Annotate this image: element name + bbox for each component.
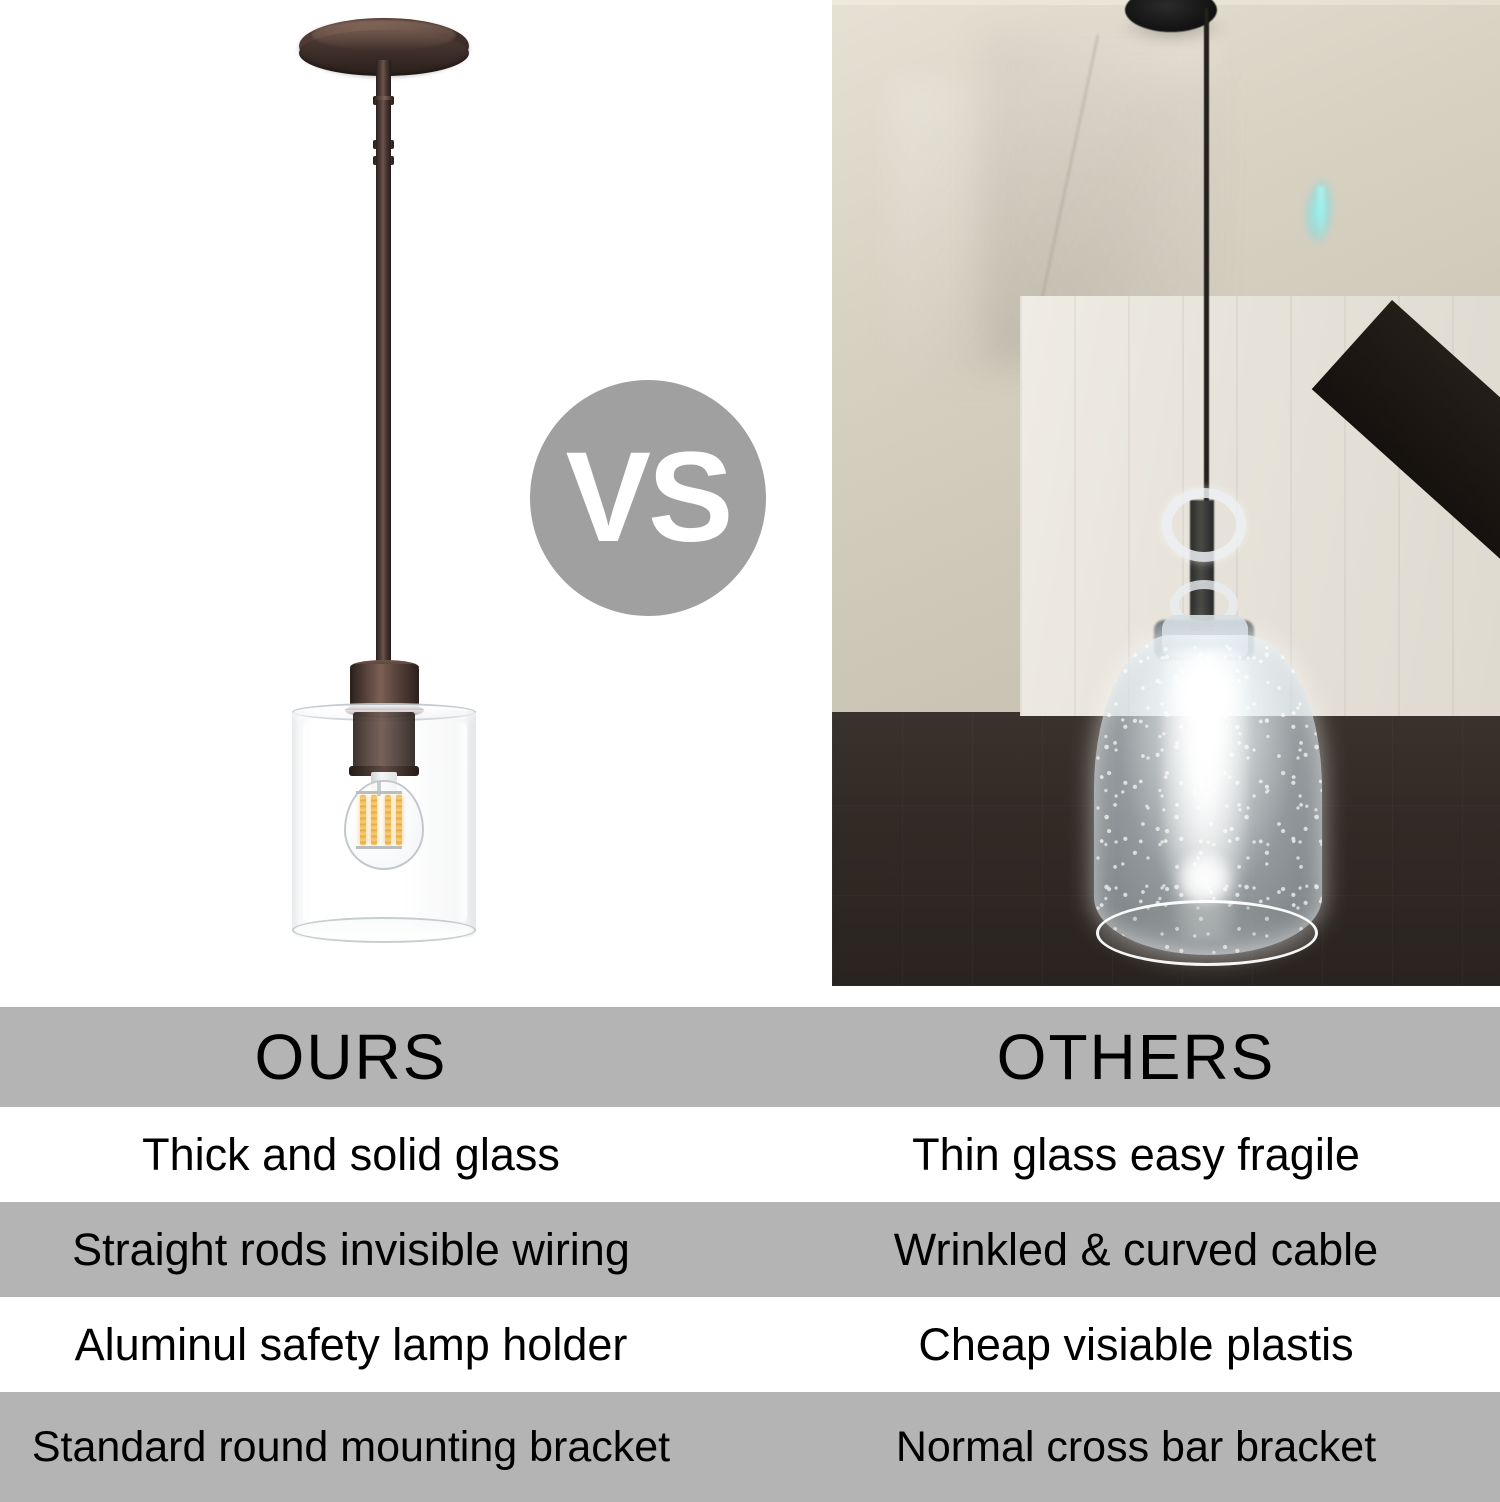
glass-shade-bottom-rim xyxy=(292,917,476,943)
hero-section: VS xyxy=(0,0,1500,1007)
filament-strip xyxy=(396,795,402,845)
column-header-ours: OURS xyxy=(0,1007,750,1107)
glass-highlight-left xyxy=(303,722,315,922)
filament-strip xyxy=(371,795,377,845)
others-product-photo xyxy=(832,0,1500,986)
canopy-highlight xyxy=(312,20,456,50)
comparison-table: OURS OTHERS Thick and solid glass Thin g… xyxy=(0,1007,1500,1502)
comparison-infographic: VS xyxy=(0,0,1500,1500)
table-row: Standard round mounting bracket Normal c… xyxy=(0,1392,1500,1502)
filament-bar-top xyxy=(356,791,402,794)
table-row: Thick and solid glass Thin glass easy fr… xyxy=(0,1107,1500,1202)
feature-ours: Thick and solid glass xyxy=(0,1107,750,1202)
feature-ours: Straight rods invisible wiring xyxy=(0,1202,750,1297)
table-header-row: OURS OTHERS xyxy=(0,1007,1500,1107)
glass-ring-upper xyxy=(1162,488,1246,562)
feature-others: Cheap visiable plastis xyxy=(750,1297,1500,1392)
vs-label: VS xyxy=(566,434,731,562)
vs-badge: VS xyxy=(530,380,766,616)
filament-strip xyxy=(385,795,391,845)
cyan-reflection-streak xyxy=(1318,186,1324,238)
downrod-segment-mid xyxy=(376,100,391,122)
glass-highlight-right xyxy=(455,722,467,922)
hanging-cord xyxy=(1204,8,1209,518)
filament-strip xyxy=(360,795,366,845)
feature-ours: Aluminul safety lamp holder xyxy=(0,1297,750,1392)
table-row: Straight rods invisible wiring Wrinkled … xyxy=(0,1202,1500,1297)
feature-ours: Standard round mounting bracket xyxy=(0,1392,750,1502)
light-hotspot-upper xyxy=(1170,660,1240,730)
column-header-others: OTHERS xyxy=(750,1007,1500,1107)
feature-others: Wrinkled & curved cable xyxy=(750,1202,1500,1297)
downrod-segment-long xyxy=(376,120,391,676)
lamp-holder xyxy=(353,712,415,774)
filament-bar-bottom xyxy=(356,846,402,849)
bell-shade-rim xyxy=(1096,900,1318,966)
table-row: Aluminul safety lamp holder Cheap visiab… xyxy=(0,1297,1500,1392)
feature-others: Normal cross bar bracket xyxy=(750,1392,1500,1502)
feature-others: Thin glass easy fragile xyxy=(750,1107,1500,1202)
